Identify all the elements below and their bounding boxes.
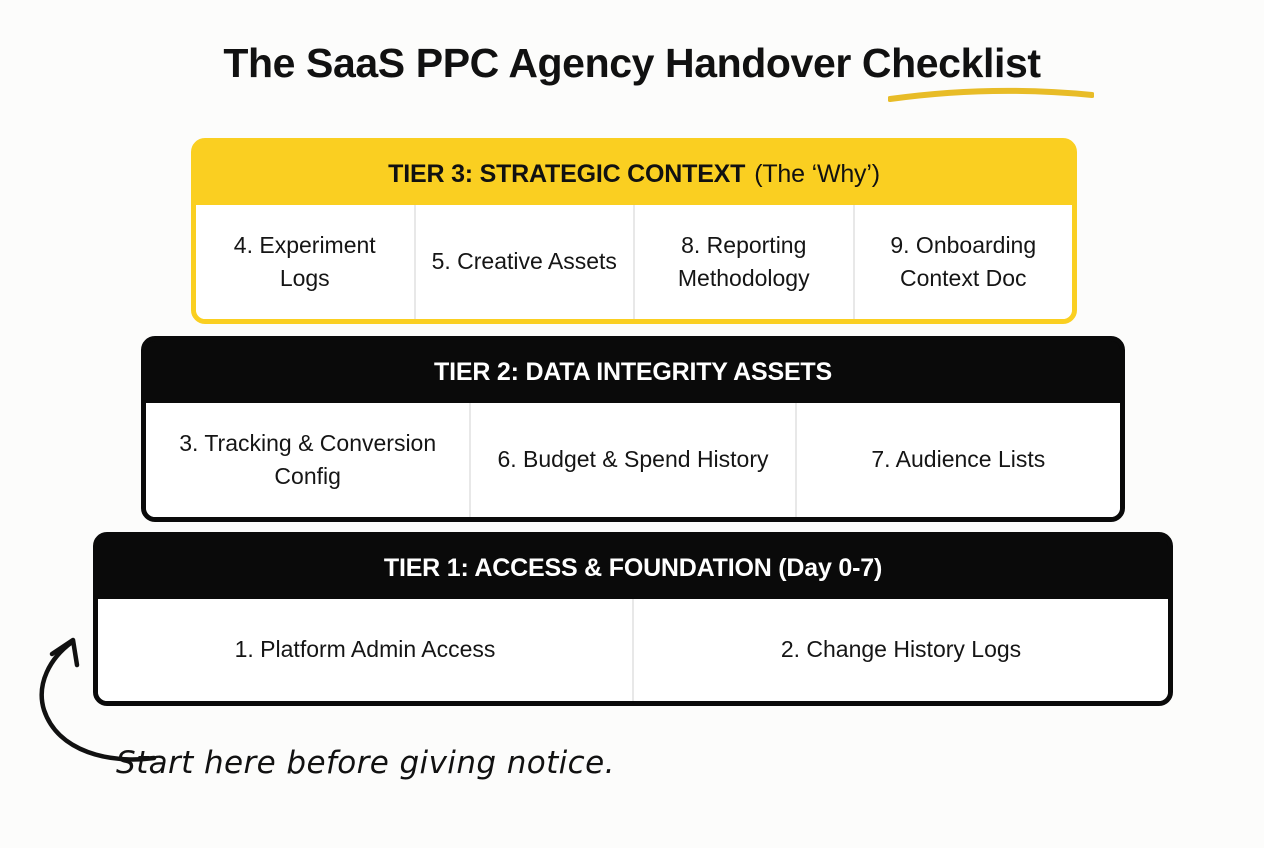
tier-1-header-strong: TIER 1: ACCESS & FOUNDATION (Day 0-7) — [384, 554, 882, 583]
page-title: The SaaS PPC Agency Handover Checklist — [223, 40, 1040, 87]
annotation-caption: Start here before giving notice. — [116, 745, 615, 781]
tier-1-card: TIER 1: ACCESS & FOUNDATION (Day 0-7) 1.… — [93, 532, 1173, 706]
tier-2-items: 3. Tracking & Conversion Config 6. Budge… — [146, 403, 1120, 517]
tier-3-card: TIER 3: STRATEGIC CONTEXT (The ‘Why’) 4.… — [191, 138, 1077, 324]
tier-3-item-4[interactable]: 9. Onboarding Context Doc — [853, 205, 1073, 319]
tier-2-header: TIER 2: DATA INTEGRITY ASSETS — [146, 341, 1120, 403]
tier-2-item-3[interactable]: 7. Audience Lists — [795, 403, 1120, 517]
tier-2-card: TIER 2: DATA INTEGRITY ASSETS 3. Trackin… — [141, 336, 1125, 522]
tier-1-items: 1. Platform Admin Access 2. Change Histo… — [98, 599, 1168, 701]
tier-3-items: 4. Experiment Logs 5. Creative Assets 8.… — [196, 205, 1072, 319]
tier-3-item-2[interactable]: 5. Creative Assets — [414, 205, 634, 319]
tier-2-item-2[interactable]: 6. Budget & Spend History — [469, 403, 794, 517]
title-underline-swoosh — [888, 86, 1094, 106]
tier-1-item-2[interactable]: 2. Change History Logs — [632, 599, 1168, 701]
tier-1-header: TIER 1: ACCESS & FOUNDATION (Day 0-7) — [98, 537, 1168, 599]
page-title-container: The SaaS PPC Agency Handover Checklist — [0, 40, 1264, 87]
infographic-canvas: The SaaS PPC Agency Handover Checklist T… — [0, 0, 1264, 848]
tier-2-header-strong: TIER 2: DATA INTEGRITY ASSETS — [434, 358, 832, 387]
tier-3-item-3[interactable]: 8. Reporting Methodology — [633, 205, 853, 319]
tier-3-header: TIER 3: STRATEGIC CONTEXT (The ‘Why’) — [196, 143, 1072, 205]
tier-2-item-1[interactable]: 3. Tracking & Conversion Config — [146, 403, 469, 517]
tier-3-header-light: (The ‘Why’) — [754, 160, 880, 189]
tier-3-item-1[interactable]: 4. Experiment Logs — [196, 205, 414, 319]
tier-1-item-1[interactable]: 1. Platform Admin Access — [98, 599, 632, 701]
tier-3-header-strong: TIER 3: STRATEGIC CONTEXT — [388, 160, 745, 189]
